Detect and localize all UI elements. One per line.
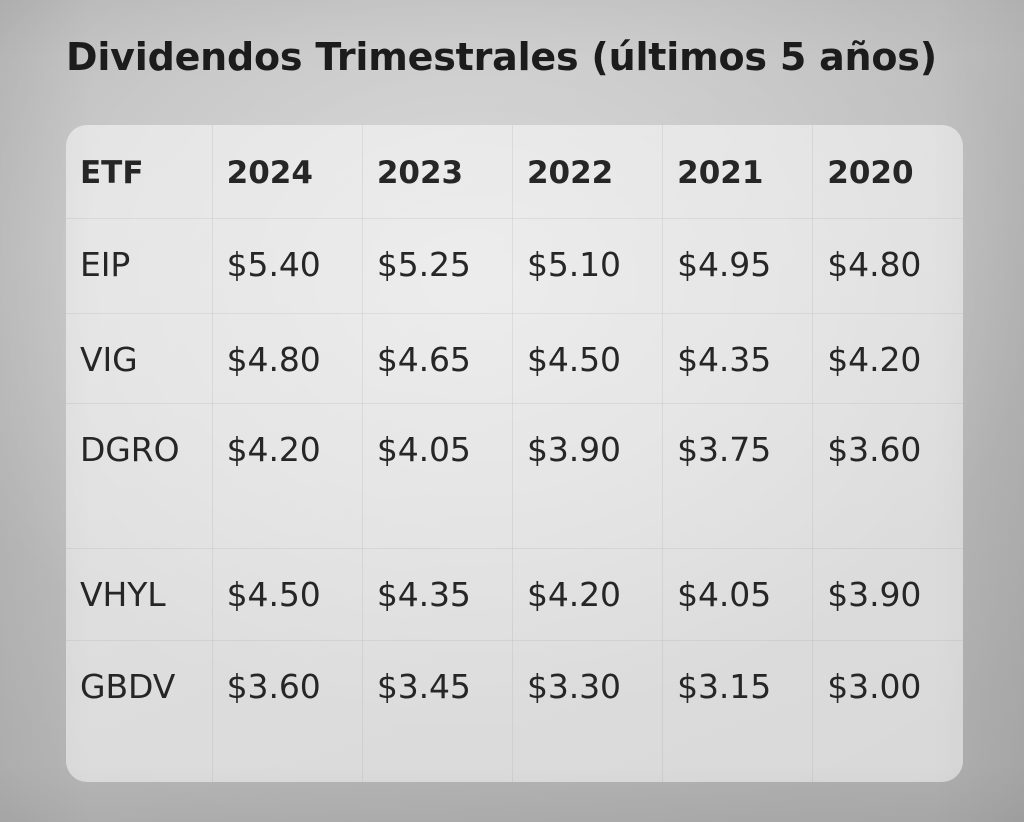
cell-value-2020: $3.90: [813, 548, 963, 640]
cell-value-2024: $4.80: [212, 313, 362, 403]
cell-value-2021: $4.05: [663, 548, 813, 640]
dividends-table: ETF 2024 2023 2022 2021 2020 EIP $5.40 $…: [66, 125, 963, 782]
cell-value-2022: $3.90: [512, 403, 662, 548]
cell-value-2021: $3.75: [663, 403, 813, 548]
table-header: ETF 2024 2023 2022 2021 2020: [66, 125, 963, 218]
cell-value-2020: $4.20: [813, 313, 963, 403]
column-header-2024[interactable]: 2024: [212, 125, 362, 218]
column-header-2020[interactable]: 2020: [813, 125, 963, 218]
table-row: GBDV $3.60 $3.45 $3.30 $3.15 $3.00: [66, 640, 963, 782]
cell-value-2023: $4.35: [362, 548, 512, 640]
cell-value-2022: $5.10: [512, 218, 662, 313]
table-body: EIP $5.40 $5.25 $5.10 $4.95 $4.80 VIG $4…: [66, 218, 963, 782]
cell-value-2024: $4.50: [212, 548, 362, 640]
cell-value-2020: $3.00: [813, 640, 963, 782]
table-row: EIP $5.40 $5.25 $5.10 $4.95 $4.80: [66, 218, 963, 313]
cell-value-2021: $4.95: [663, 218, 813, 313]
column-header-2022[interactable]: 2022: [512, 125, 662, 218]
cell-value-2023: $3.45: [362, 640, 512, 782]
table-header-row: ETF 2024 2023 2022 2021 2020: [66, 125, 963, 218]
column-header-2021[interactable]: 2021: [663, 125, 813, 218]
cell-value-2020: $4.80: [813, 218, 963, 313]
dividends-table-card: ETF 2024 2023 2022 2021 2020 EIP $5.40 $…: [66, 125, 963, 782]
cell-value-2023: $4.05: [362, 403, 512, 548]
cell-etf-name: DGRO: [66, 403, 212, 548]
cell-value-2021: $4.35: [663, 313, 813, 403]
table-row: DGRO $4.20 $4.05 $3.90 $3.75 $3.60: [66, 403, 963, 548]
cell-value-2022: $3.30: [512, 640, 662, 782]
cell-value-2023: $4.65: [362, 313, 512, 403]
cell-etf-name: VIG: [66, 313, 212, 403]
cell-value-2021: $3.15: [663, 640, 813, 782]
cell-etf-name: GBDV: [66, 640, 212, 782]
cell-value-2023: $5.25: [362, 218, 512, 313]
cell-value-2022: $4.50: [512, 313, 662, 403]
column-header-etf[interactable]: ETF: [66, 125, 212, 218]
column-header-2023[interactable]: 2023: [362, 125, 512, 218]
page-root: Dividendos Trimestrales (últimos 5 años)…: [0, 0, 1024, 822]
cell-etf-name: EIP: [66, 218, 212, 313]
cell-value-2024: $3.60: [212, 640, 362, 782]
cell-value-2020: $3.60: [813, 403, 963, 548]
cell-value-2024: $4.20: [212, 403, 362, 548]
table-row: VIG $4.80 $4.65 $4.50 $4.35 $4.20: [66, 313, 963, 403]
table-row: VHYL $4.50 $4.35 $4.20 $4.05 $3.90: [66, 548, 963, 640]
cell-value-2022: $4.20: [512, 548, 662, 640]
cell-value-2024: $5.40: [212, 218, 362, 313]
page-title: Dividendos Trimestrales (últimos 5 años): [66, 33, 966, 81]
cell-etf-name: VHYL: [66, 548, 212, 640]
